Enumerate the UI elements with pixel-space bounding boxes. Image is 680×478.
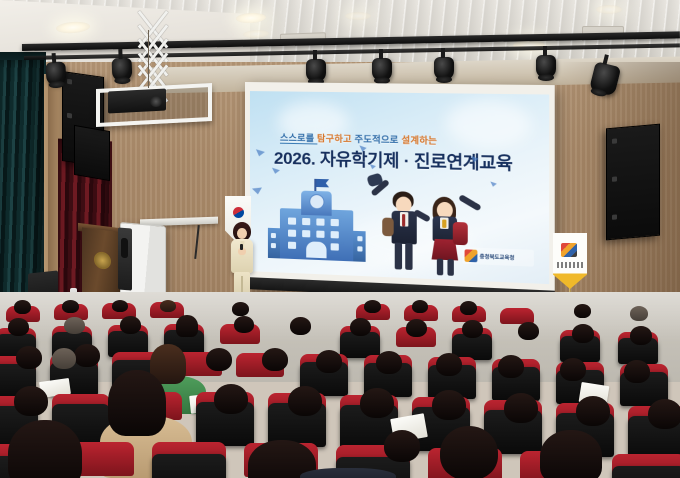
audience-head — [108, 370, 166, 436]
auditorium-photo: 스스로를 탐구하고 주도적으로 설계하는 2026. 자유학기제 · 진로연계교… — [0, 0, 680, 478]
audience-head — [74, 344, 100, 367]
student-ribbon — [442, 219, 446, 227]
seat — [152, 454, 226, 478]
audience-head — [560, 358, 586, 381]
school-flag-icon — [314, 179, 316, 191]
education-office-emblem-icon — [465, 249, 478, 262]
audience-head — [412, 300, 428, 313]
audience-head — [462, 320, 483, 338]
audience-head — [498, 355, 524, 378]
audience-head — [16, 346, 42, 369]
slide-subtitle-part: 주도적으로 — [355, 134, 402, 145]
audience-head — [8, 420, 82, 478]
projector-lens — [150, 96, 162, 107]
audience-head — [120, 316, 141, 334]
audience-head — [576, 396, 610, 426]
slide-school-illustration — [268, 184, 366, 262]
audience-head — [630, 306, 648, 321]
stage-light — [536, 55, 556, 78]
projector-lift — [96, 26, 206, 112]
audience-head — [436, 353, 462, 376]
ceiling-cable — [148, 30, 149, 88]
taeguk-symbol-icon — [233, 207, 244, 218]
audience-head — [648, 399, 680, 429]
audience-head — [234, 316, 254, 333]
student-tie — [402, 214, 405, 226]
audience-head — [540, 430, 602, 478]
projection-screen: 스스로를 탐구하고 주도적으로 설계하는 2026. 자유학기제 · 진로연계교… — [245, 82, 555, 303]
audience-head — [62, 300, 79, 313]
audience-head — [176, 315, 198, 337]
projected-slide: 스스로를 탐구하고 주도적으로 설계하는 2026. 자유학기제 · 진로연계교… — [250, 91, 549, 284]
microphone — [240, 244, 243, 250]
student-satchel — [382, 218, 393, 237]
stage-light — [45, 61, 67, 85]
confetti — [252, 187, 262, 194]
flag-text — [557, 262, 583, 268]
presenter-face — [237, 228, 247, 239]
stage-light — [306, 59, 326, 82]
audience-head — [262, 348, 288, 371]
audience-head — [360, 388, 394, 418]
ceiling-light — [345, 12, 371, 20]
audience-head — [574, 304, 591, 318]
slide-subtitle-part: 탐구하고 — [317, 133, 355, 144]
seat — [612, 466, 680, 478]
ceiling-light — [596, 5, 622, 14]
audience-head — [232, 302, 249, 316]
education-office-emblem-icon — [561, 243, 577, 257]
air-purifier-vent — [121, 238, 128, 259]
slide-subtitle-part: 설계하는 — [401, 135, 437, 146]
confetti — [490, 181, 496, 186]
audience-seating — [0, 300, 680, 478]
audience-head — [214, 384, 248, 414]
confetti — [256, 149, 265, 156]
audience-head — [518, 322, 539, 340]
slide-subtitle-part: 스스로를 — [280, 133, 317, 145]
audience-head — [376, 351, 402, 374]
audience-head — [384, 430, 420, 462]
audience-head — [572, 324, 594, 343]
audience-head — [432, 390, 466, 420]
audience-head — [290, 317, 311, 335]
audience-torso — [300, 468, 396, 478]
air-purifier-side-panel — [118, 227, 132, 290]
screen-glare — [445, 100, 531, 149]
audience-head — [630, 326, 652, 345]
audience-head — [504, 393, 538, 423]
slide-student-girl — [422, 192, 473, 277]
student-arm — [458, 194, 482, 211]
audience-head — [8, 318, 29, 336]
wall-speaker — [74, 125, 110, 181]
stage-light — [434, 57, 454, 80]
audience-head — [64, 317, 85, 334]
audience-head — [406, 319, 427, 337]
flag-cloth — [553, 233, 587, 289]
audience-head — [316, 350, 342, 373]
scissor-lift-arms — [130, 26, 176, 88]
audience-head — [14, 300, 31, 314]
audience-head — [160, 300, 176, 312]
stage-light — [372, 58, 392, 81]
slide-organization-logo: 충청북도교육청 — [462, 247, 533, 266]
student-backpack — [453, 222, 468, 245]
audience-head — [206, 348, 232, 371]
audience-head — [350, 318, 371, 336]
audience-head — [52, 348, 76, 369]
wall-speaker — [606, 124, 660, 241]
audience-head — [460, 301, 477, 315]
audience-head — [288, 386, 322, 416]
school-clock — [309, 194, 324, 210]
audience-head — [440, 426, 498, 478]
organization-name: 충청북도교육청 — [480, 252, 515, 261]
audience-head — [624, 360, 650, 383]
audience-head — [364, 300, 381, 313]
audience-head — [14, 386, 48, 416]
audience-head — [112, 300, 128, 312]
